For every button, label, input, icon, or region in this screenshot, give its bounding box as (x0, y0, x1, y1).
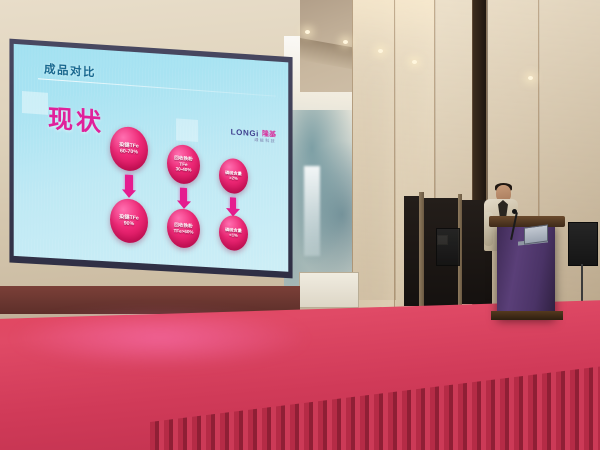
podium-top-surface (489, 216, 565, 227)
podium-base (491, 311, 563, 320)
slide-corner-mark (276, 283, 278, 289)
slide-decoration-rect (22, 91, 48, 115)
bubble-before-2: 回收铁粉 TFe 30-40% (167, 144, 200, 185)
bubble-after-1: 染锡TFe 90% (110, 197, 148, 244)
bubble-line: 60-70% (120, 148, 138, 155)
downlight (378, 49, 383, 53)
arrow-column-1 (125, 175, 133, 192)
screen-surface[interactable]: 成品对比 现状 LONGi 隆基 绿能科技 染锡TFe 60-70% 回收铁粉 … (8, 24, 294, 289)
dark-doorway (404, 196, 420, 306)
slide-title: 成品对比 (44, 61, 96, 81)
presentation-photo: 成品对比 现状 LONGi 隆基 绿能科技 染锡TFe 60-70% 回收铁粉 … (0, 0, 600, 450)
slide-decoration-rect (176, 118, 198, 142)
arrow-column-2 (180, 188, 187, 203)
loudspeaker-cabinet (436, 228, 460, 266)
bubble-after-3: 磷硫含量 <1% (219, 214, 248, 251)
downlight (343, 40, 348, 44)
stage-light-glow (10, 308, 310, 368)
arrow-column-3 (230, 197, 236, 209)
microphone-icon (512, 209, 517, 214)
bubble-line: 90% (124, 221, 134, 228)
logo-subtitle: 绿能科技 (254, 137, 276, 145)
downlight (528, 76, 533, 80)
bubble-after-2: 回收铁粉 TFe>60% (167, 208, 200, 249)
wall-panel (352, 0, 396, 300)
downlight (305, 30, 310, 34)
bubble-line: 30-40% (176, 167, 192, 174)
door-frame (419, 192, 424, 308)
bubble-line: <1% (229, 233, 238, 239)
slide-heading: 现状 (48, 99, 104, 139)
led-screen: 成品对比 现状 LONGi 隆基 绿能科技 染锡TFe 60-70% 回收铁粉 … (8, 24, 294, 289)
bubble-line: TFe>60% (173, 228, 193, 235)
bubble-line: >2% (229, 176, 238, 182)
slide-title-rule (38, 78, 276, 96)
wall-artwork (299, 272, 359, 308)
loudspeaker-cabinet (568, 222, 598, 266)
speaker-stand (581, 264, 583, 304)
bubble-before-3: 磷硫含量 >2% (219, 157, 248, 194)
bubble-before-1: 染锡TFe 60-70% (110, 125, 148, 172)
slide-canvas: 成品对比 现状 LONGi 隆基 绿能科技 染锡TFe 60-70% 回收铁粉 … (8, 24, 294, 289)
laptop-screen[interactable] (524, 224, 548, 244)
downlight (412, 60, 417, 64)
